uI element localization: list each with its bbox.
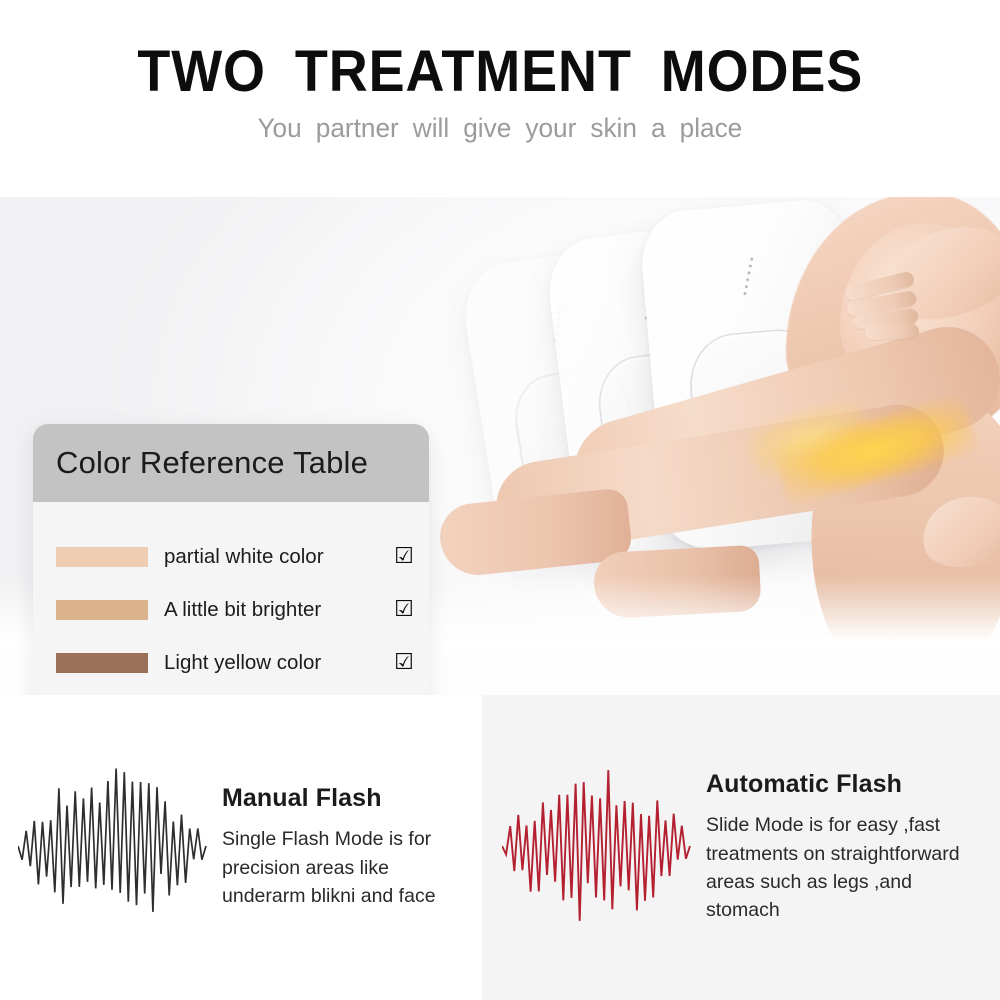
color-reference-header: Color Reference Table — [33, 424, 429, 502]
manual-mode-title: Manual Flash — [222, 784, 472, 813]
treatment-modes-section: Manual Flash Single Flash Mode is for pr… — [0, 695, 1000, 1000]
automatic-mode-text: Automatic Flash Slide Mode is for easy ,… — [692, 770, 1000, 925]
product-photo-band: Color Reference Table partial white colo… — [0, 197, 1000, 695]
automatic-mode-description: Slide Mode is for easy ,fast treatments … — [706, 811, 964, 925]
color-reference-row: partial white color☑ — [33, 530, 429, 583]
mode-panel-automatic: Automatic Flash Slide Mode is for easy ,… — [482, 695, 1000, 1000]
checked-checkbox-icon[interactable]: ☑ — [387, 652, 421, 674]
color-swatch — [56, 547, 148, 567]
color-row-label: Light yellow color — [164, 651, 387, 675]
color-swatch — [56, 600, 148, 620]
manual-waveform-icon — [18, 763, 208, 933]
manual-mode-description: Single Flash Mode is for precision areas… — [222, 825, 472, 910]
mode-panel-manual: Manual Flash Single Flash Mode is for pr… — [0, 695, 482, 1000]
page-title: TWO TREATMENT MODES — [137, 42, 863, 103]
automatic-waveform-icon — [502, 763, 692, 933]
color-row-label: partial white color — [164, 545, 387, 569]
header-section: TWO TREATMENT MODES You partner will giv… — [0, 0, 1000, 197]
color-swatch — [56, 653, 148, 673]
color-reference-title: Color Reference Table — [56, 445, 368, 481]
color-reference-row: Light yellow color☑ — [33, 636, 429, 689]
color-row-label: A little bit brighter — [164, 598, 387, 622]
manual-mode-text: Manual Flash Single Flash Mode is for pr… — [208, 784, 482, 910]
color-reference-card: Color Reference Table partial white colo… — [33, 424, 429, 695]
product-infographic: TWO TREATMENT MODES You partner will giv… — [0, 0, 1000, 1000]
checked-checkbox-icon[interactable]: ☑ — [387, 599, 421, 621]
automatic-mode-title: Automatic Flash — [706, 770, 990, 799]
page-subtitle: You partner will give your skin a place — [258, 113, 743, 144]
color-reference-row: A little bit brighter☑ — [33, 583, 429, 636]
checked-checkbox-icon[interactable]: ☑ — [387, 546, 421, 568]
color-reference-rows: partial white color☑A little bit brighte… — [33, 502, 429, 695]
